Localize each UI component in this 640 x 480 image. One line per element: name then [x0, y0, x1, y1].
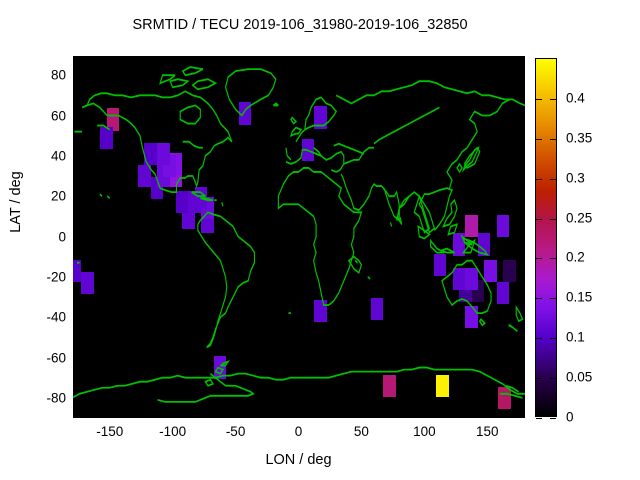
- x-tick-label: 150: [457, 424, 517, 439]
- colorbar-tick: [536, 179, 542, 180]
- colorbar-tick: [550, 338, 556, 339]
- colorbar-tick-label: 0.4: [566, 90, 585, 105]
- colorbar-tick-label: 0.25: [566, 210, 592, 225]
- colorbar-tick: [536, 298, 542, 299]
- colorbar-tick: [536, 99, 542, 100]
- colorbar[interactable]: [535, 58, 557, 417]
- colorbar-tick: [550, 99, 556, 100]
- colorbar-tick: [550, 258, 556, 259]
- colorbar-tick-label: 0: [566, 410, 574, 425]
- x-tick-label: 100: [394, 424, 454, 439]
- colorbar-tick: [536, 418, 542, 419]
- y-axis-label: LAT / deg: [8, 102, 24, 302]
- colorbar-tick: [550, 179, 556, 180]
- colorbar-tick-label: 0.05: [566, 370, 592, 385]
- y-tick-label: 80: [4, 68, 66, 83]
- x-axis-label: LON / deg: [72, 452, 525, 468]
- figure-canvas: SRMTID / TECU 2019-106_31980-2019-106_32…: [0, 0, 640, 480]
- x-axis-ticks: -150-100-50050100150: [72, 424, 525, 444]
- map-plot-area[interactable]: [72, 55, 525, 418]
- colorbar-tick: [550, 139, 556, 140]
- coastlines: [72, 55, 525, 418]
- x-tick-label: -100: [143, 424, 203, 439]
- x-tick-label: -50: [206, 424, 266, 439]
- y-tick-label: -40: [4, 310, 66, 325]
- colorbar-tick-label: 0.15: [566, 290, 592, 305]
- x-tick-label: 0: [269, 424, 329, 439]
- colorbar-tick: [536, 258, 542, 259]
- colorbar-gradient: [536, 59, 556, 416]
- colorbar-tick-label: 0.1: [566, 330, 585, 345]
- page-title: SRMTID / TECU 2019-106_31980-2019-106_32…: [0, 17, 600, 33]
- colorbar-tick: [550, 298, 556, 299]
- colorbar-tick: [550, 378, 556, 379]
- colorbar-tick: [536, 139, 542, 140]
- colorbar-tick-label: 0.3: [566, 170, 585, 185]
- colorbar-tick: [550, 219, 556, 220]
- x-tick-label: 50: [331, 424, 391, 439]
- colorbar-tick-label: 0.35: [566, 130, 592, 145]
- colorbar-tick: [536, 378, 542, 379]
- colorbar-tick: [536, 219, 542, 220]
- y-tick-label: -80: [4, 390, 66, 405]
- y-tick-label: -60: [4, 350, 66, 365]
- colorbar-tick: [536, 338, 542, 339]
- colorbar-tick: [550, 418, 556, 419]
- x-tick-label: -150: [80, 424, 140, 439]
- colorbar-tick-label: 0.2: [566, 250, 585, 265]
